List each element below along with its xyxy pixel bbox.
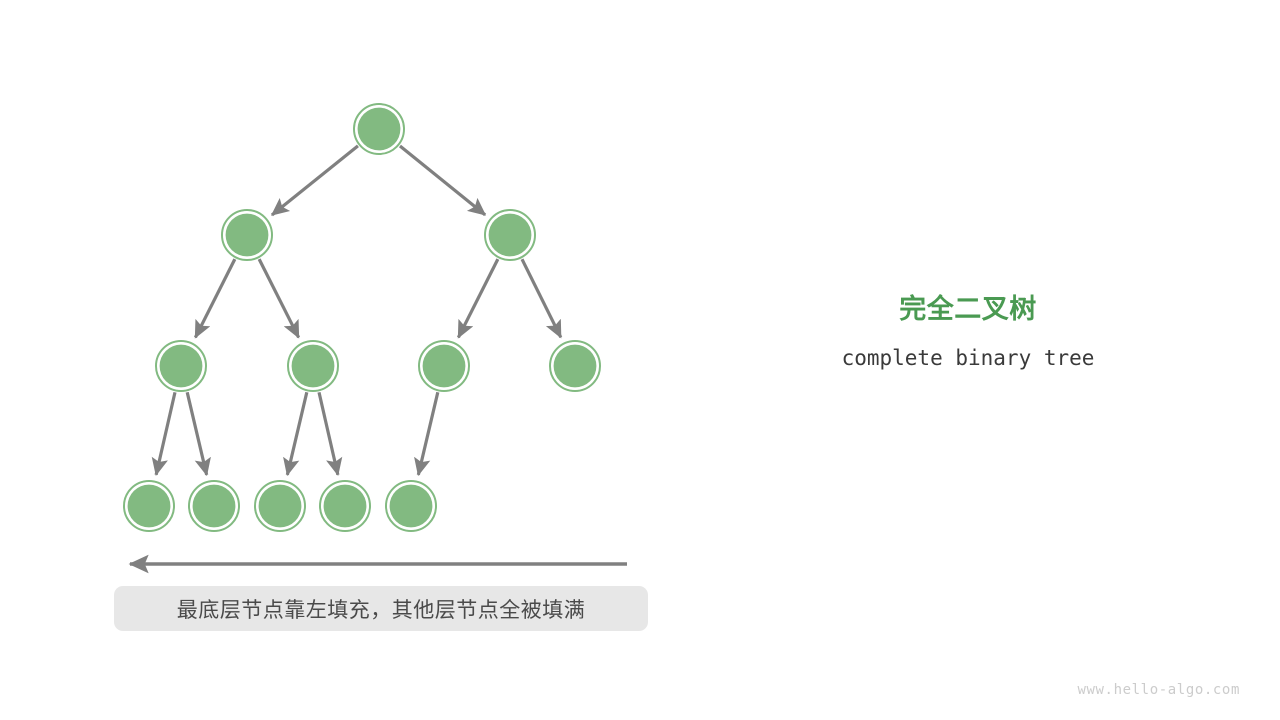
tree-node xyxy=(288,341,338,391)
tree-node xyxy=(485,210,535,260)
tree-edge xyxy=(418,392,437,475)
tree-edge xyxy=(156,392,175,474)
tree-node-disc xyxy=(489,214,532,257)
tree-node xyxy=(550,341,600,391)
tree-node-disc xyxy=(554,345,597,388)
tree-edge xyxy=(187,392,206,475)
tree-node-disc xyxy=(259,485,302,528)
tree-edge xyxy=(287,392,306,475)
tree-node xyxy=(320,481,370,531)
figure-canvas: 完全二叉树 complete binary tree 最底层节点靠左填充，其他层… xyxy=(0,0,1280,720)
tree-node xyxy=(124,481,174,531)
tree-node xyxy=(189,481,239,531)
tree-node-disc xyxy=(193,485,236,528)
tree-node-layer xyxy=(124,104,600,531)
caption-box: 最底层节点靠左填充，其他层节点全被填满 xyxy=(114,586,648,631)
tree-node xyxy=(419,341,469,391)
legend-subtitle: complete binary tree xyxy=(768,344,1168,372)
tree-node-disc xyxy=(324,485,367,528)
tree-node-disc xyxy=(358,108,401,151)
tree-edge xyxy=(319,392,338,474)
tree-node xyxy=(156,341,206,391)
tree-node-disc xyxy=(292,345,335,388)
tree-edge xyxy=(272,146,358,215)
tree-node-disc xyxy=(160,345,203,388)
caption-text: 最底层节点靠左填充，其他层节点全被填满 xyxy=(177,594,586,624)
tree-edge xyxy=(195,259,234,337)
watermark: www.hello-algo.com xyxy=(1077,682,1240,698)
tree-node xyxy=(222,210,272,260)
tree-node-disc xyxy=(390,485,433,528)
tree-node-disc xyxy=(128,485,171,528)
tree-node-disc xyxy=(226,214,269,257)
tree-node xyxy=(354,104,404,154)
legend-block: 完全二叉树 complete binary tree xyxy=(768,292,1168,372)
tree-edge xyxy=(400,146,485,215)
tree-node-disc xyxy=(423,345,466,388)
tree-edge xyxy=(522,259,561,337)
tree-edge xyxy=(458,259,497,337)
tree-edge-layer xyxy=(156,146,561,475)
tree-node xyxy=(386,481,436,531)
tree-node xyxy=(255,481,305,531)
legend-title: 完全二叉树 xyxy=(768,292,1168,326)
tree-edge xyxy=(259,259,298,337)
